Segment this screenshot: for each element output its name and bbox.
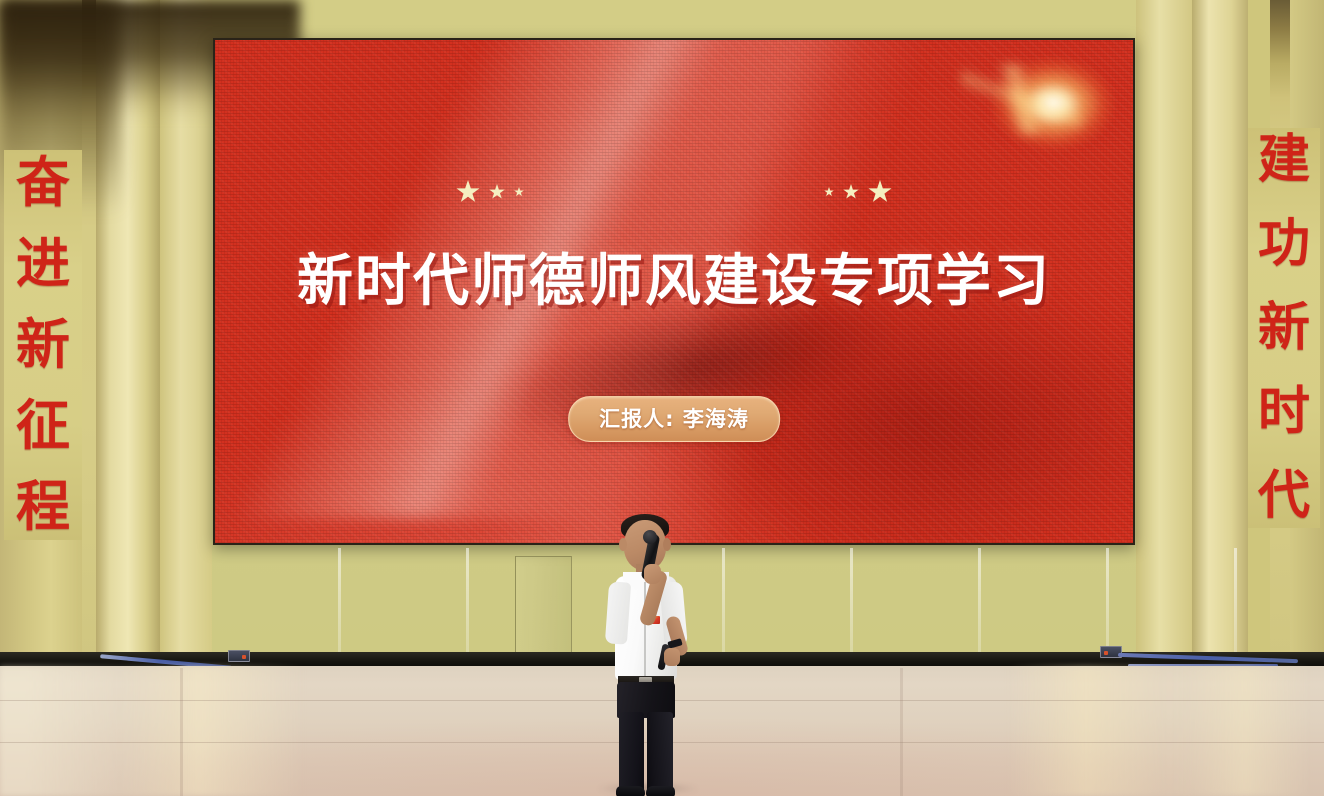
presenter-badge: 汇报人: 李海涛 <box>568 396 780 442</box>
banner-right-char-5: 代 <box>1258 468 1310 524</box>
hand-right <box>644 564 661 584</box>
star-icon <box>514 187 524 197</box>
star-cluster-left <box>456 180 524 204</box>
banner-left: 奋 进 新 征 程 <box>4 150 82 540</box>
banner-right-char-3: 新 <box>1258 300 1310 356</box>
pillar-right-1 <box>1136 0 1192 700</box>
trouser-leg-right <box>647 712 673 796</box>
wall-panel-seam <box>722 548 725 666</box>
banner-left-char-4: 征 <box>16 397 70 455</box>
banner-left-char-2: 进 <box>16 235 70 293</box>
ear-left <box>619 538 627 551</box>
screen-glare-rays <box>961 64 1081 134</box>
sleeve-left <box>605 581 631 644</box>
star-icon <box>456 180 480 204</box>
decorative-stars-row <box>215 180 1133 204</box>
hand-left <box>664 648 680 666</box>
slide-title: 新时代师德师风建设专项学习 <box>215 236 1133 317</box>
shoe-right <box>646 786 675 796</box>
wall-panel-seam <box>850 548 853 666</box>
pillar-right-2 <box>1192 0 1248 700</box>
led-screen: 新时代师德师风建设专项学习 汇报人: 李海涛 <box>213 38 1135 545</box>
outlet-indicator-icon <box>242 655 246 659</box>
star-icon <box>824 187 834 197</box>
banner-left-char-5: 程 <box>16 478 70 536</box>
trouser-leg-left <box>619 712 644 796</box>
banner-right-char-4: 时 <box>1258 384 1310 440</box>
auditorium-scene: 奋 进 新 征 程 建 功 新 时 代 <box>0 0 1324 796</box>
wall-outlet-left <box>228 650 250 662</box>
floor-seam <box>900 668 903 796</box>
wall-panel-seam <box>466 548 469 666</box>
floor-seam <box>180 668 183 796</box>
banner-left-char-1: 奋 <box>16 154 70 212</box>
presenter <box>588 512 706 792</box>
wall-panel-seam <box>978 548 981 666</box>
banner-right-char-2: 功 <box>1258 216 1310 272</box>
wall-panel-seam <box>1234 548 1237 666</box>
star-icon <box>843 184 859 200</box>
banner-right-char-1: 建 <box>1258 132 1310 188</box>
banner-left-char-3: 新 <box>16 316 70 374</box>
star-icon <box>868 180 892 204</box>
ear-right <box>663 538 671 551</box>
banner-right: 建 功 新 时 代 <box>1248 128 1320 528</box>
star-icon <box>489 184 505 200</box>
shoe-left <box>616 786 645 796</box>
outlet-indicator-icon <box>1104 651 1108 655</box>
star-cluster-right <box>824 180 892 204</box>
wall-panel-seam <box>338 548 341 666</box>
stage-access-door <box>515 556 572 666</box>
